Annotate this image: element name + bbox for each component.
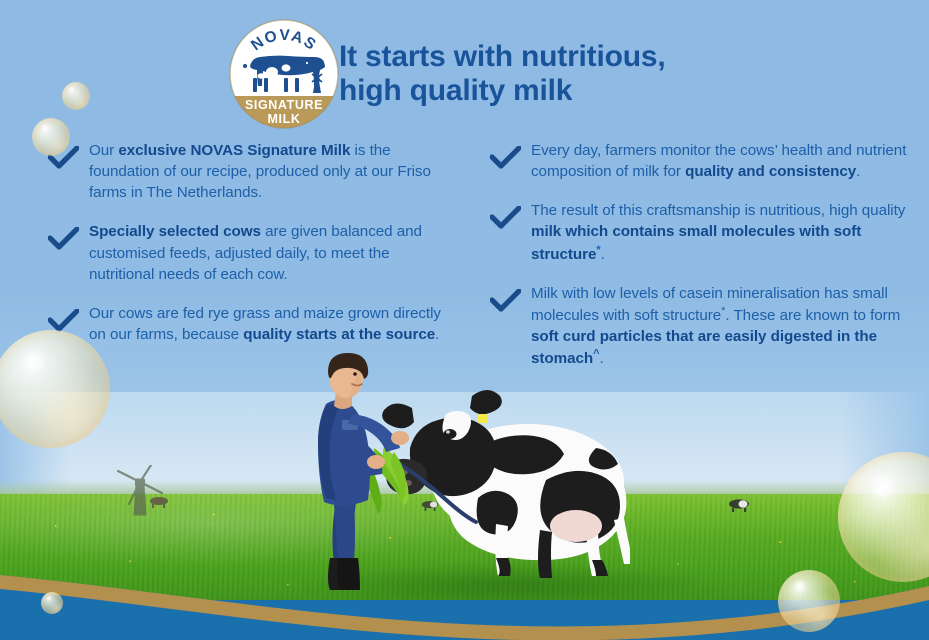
bullet-item: Our exclusive NOVAS Signature Milk is th… <box>48 140 458 203</box>
bullet-text-segment: Our <box>89 142 118 159</box>
bullet-item: Milk with low levels of casein mineralis… <box>490 283 910 370</box>
bullet-column-right: Every day, farmers monitor the cows’ hea… <box>490 140 910 387</box>
bullet-text-segment: Specially selected cows <box>89 223 261 240</box>
headline-line-1: It starts with nutritious, <box>339 40 759 74</box>
headline-line-2: high quality milk <box>339 74 759 108</box>
check-icon <box>48 146 79 170</box>
page-title: It starts with nutritious, high quality … <box>339 40 759 108</box>
bullet-text-segment: quality starts at the source <box>243 326 435 343</box>
bullet-text-segment: . <box>435 326 439 343</box>
bullet-text-segment: soft curd particles that are easily dige… <box>531 328 877 367</box>
gold-wave-divider <box>0 560 929 640</box>
bullet-text: Milk with low levels of casein mineralis… <box>531 283 910 370</box>
bullet-text-segment: . <box>599 350 603 367</box>
bullet-text-segment: milk which contains small molecules with… <box>531 223 861 262</box>
poster: NOVAS SIGNATURE M <box>0 0 929 640</box>
novas-signature-milk-logo: NOVAS SIGNATURE M <box>228 18 340 130</box>
holstein-cow <box>382 390 630 578</box>
bullet-text: Specially selected cows are given balanc… <box>89 221 458 284</box>
bullet-text-segment: The result of this craftsmanship is nutr… <box>531 202 905 219</box>
bullet-text: Every day, farmers monitor the cows’ hea… <box>531 140 910 182</box>
distant-cow-icon <box>726 498 752 512</box>
bullet-text-segment: . <box>856 163 860 180</box>
bullet-text: Our exclusive NOVAS Signature Milk is th… <box>89 140 458 203</box>
bullet-text: The result of this craftsmanship is nutr… <box>531 200 910 264</box>
check-icon <box>48 309 79 333</box>
logo-milk-text: MILK <box>268 112 301 126</box>
bullet-item: The result of this craftsmanship is nutr… <box>490 200 910 264</box>
logo-signature-text: SIGNATURE <box>245 98 323 112</box>
distant-cow-icon <box>148 496 170 508</box>
bullet-column-left: Our exclusive NOVAS Signature Milk is th… <box>48 140 458 363</box>
bullet-item: Every day, farmers monitor the cows’ hea… <box>490 140 910 182</box>
bullet-text-segment: . These are known to form <box>725 307 900 324</box>
check-icon <box>490 146 521 170</box>
bullet-text-segment: quality and consistency <box>685 163 856 180</box>
bullet-text-segment: . <box>601 246 605 263</box>
bullet-item: Specially selected cows are given balanc… <box>48 221 458 284</box>
bullet-text-segment: exclusive NOVAS Signature Milk <box>118 142 350 159</box>
check-icon <box>48 227 79 251</box>
check-icon <box>490 289 521 313</box>
bullet-item: Our cows are fed rye grass and maize gro… <box>48 303 458 345</box>
windmill-icon <box>110 465 180 517</box>
bullet-text: Our cows are fed rye grass and maize gro… <box>89 303 458 345</box>
check-icon <box>490 206 521 230</box>
